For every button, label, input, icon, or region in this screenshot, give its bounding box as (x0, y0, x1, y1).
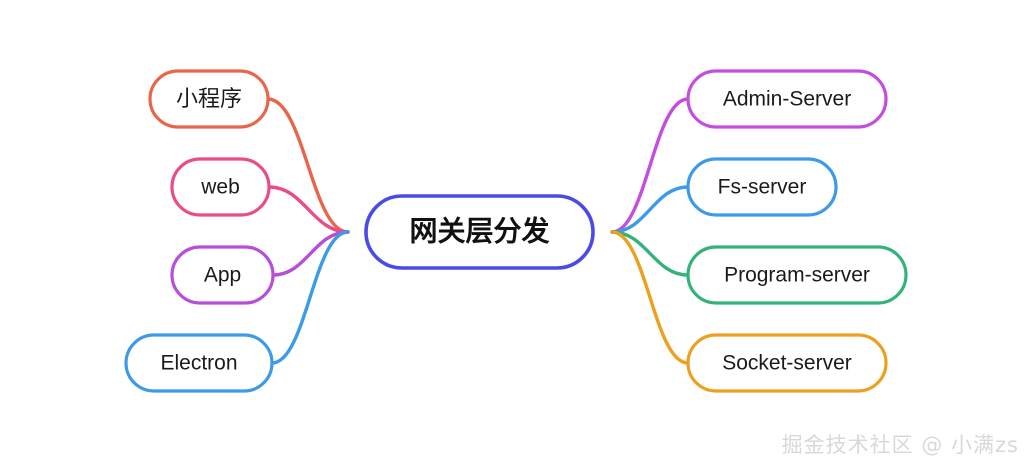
mindmap-node-gateway-root[interactable]: 网关层分发 (366, 196, 593, 268)
mindmap-canvas: 小程序webAppElectronAdmin-ServerFs-serverPr… (0, 0, 1033, 469)
node-label: Electron (160, 352, 237, 375)
mindmap-node-app[interactable]: App (172, 247, 273, 303)
node-label: 小程序 (176, 86, 242, 111)
node-label: 网关层分发 (409, 214, 549, 246)
mindmap-node-fs-server[interactable]: Fs-server (688, 159, 836, 215)
node-label: Socket-server (722, 352, 852, 375)
node-label: Admin-Server (723, 88, 851, 111)
node-layer: 小程序webAppElectronAdmin-ServerFs-serverPr… (126, 71, 906, 391)
connector-mini-program (268, 99, 348, 232)
mindmap-node-web[interactable]: web (172, 159, 269, 215)
mindmap-node-electron[interactable]: Electron (126, 335, 272, 391)
mindmap-node-socket-server[interactable]: Socket-server (688, 335, 886, 391)
node-label: web (200, 176, 240, 199)
node-label: App (204, 264, 241, 287)
watermark-text: 掘金技术社区 @ 小满zs (782, 429, 1019, 459)
node-label: Fs-server (718, 176, 807, 199)
mindmap-node-mini-program[interactable]: 小程序 (150, 71, 268, 127)
mindmap-node-admin-server[interactable]: Admin-Server (688, 71, 886, 127)
mindmap-node-program-server[interactable]: Program-server (688, 247, 906, 303)
connector-admin-server (612, 99, 688, 232)
node-label: Program-server (724, 264, 870, 287)
